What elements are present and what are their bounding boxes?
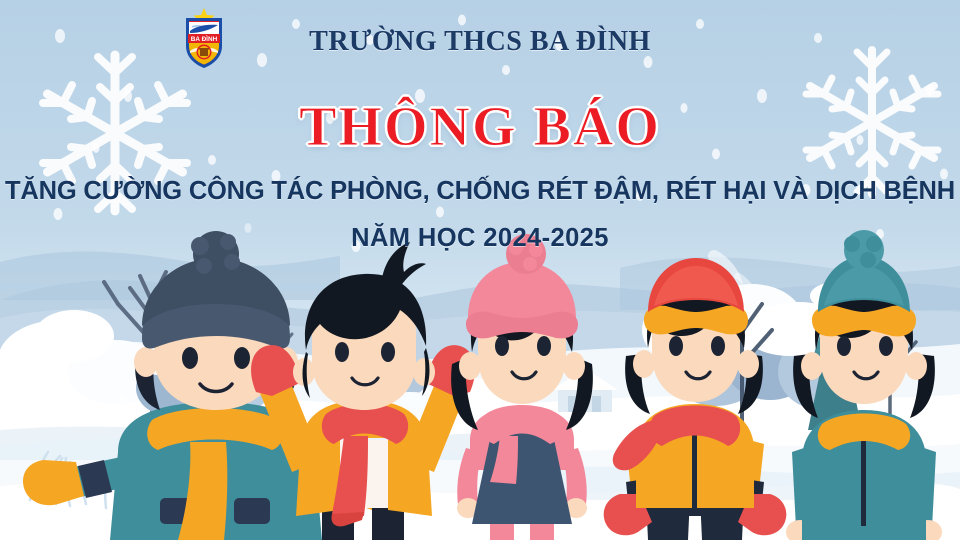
logo-banner-text: BA ĐÌNH [191,34,218,43]
school-logo: BA ĐÌNH [178,6,230,70]
school-name: TRƯỜNG THCS BA ĐÌNH [0,26,960,58]
winter-scene-illustration [0,0,960,540]
school-year-label: NĂM HỌC 2024-2025 [0,224,960,253]
page-title: THÔNG BÁO [0,95,960,159]
winter-notice-poster: BA ĐÌNH TRƯỜNG THCS BA ĐÌNH THÔNG BÁO TĂ… [0,0,960,540]
notice-subtitle: TĂNG CƯỜNG CÔNG TÁC PHÒNG, CHỐNG RÉT ĐẬM… [0,177,960,206]
